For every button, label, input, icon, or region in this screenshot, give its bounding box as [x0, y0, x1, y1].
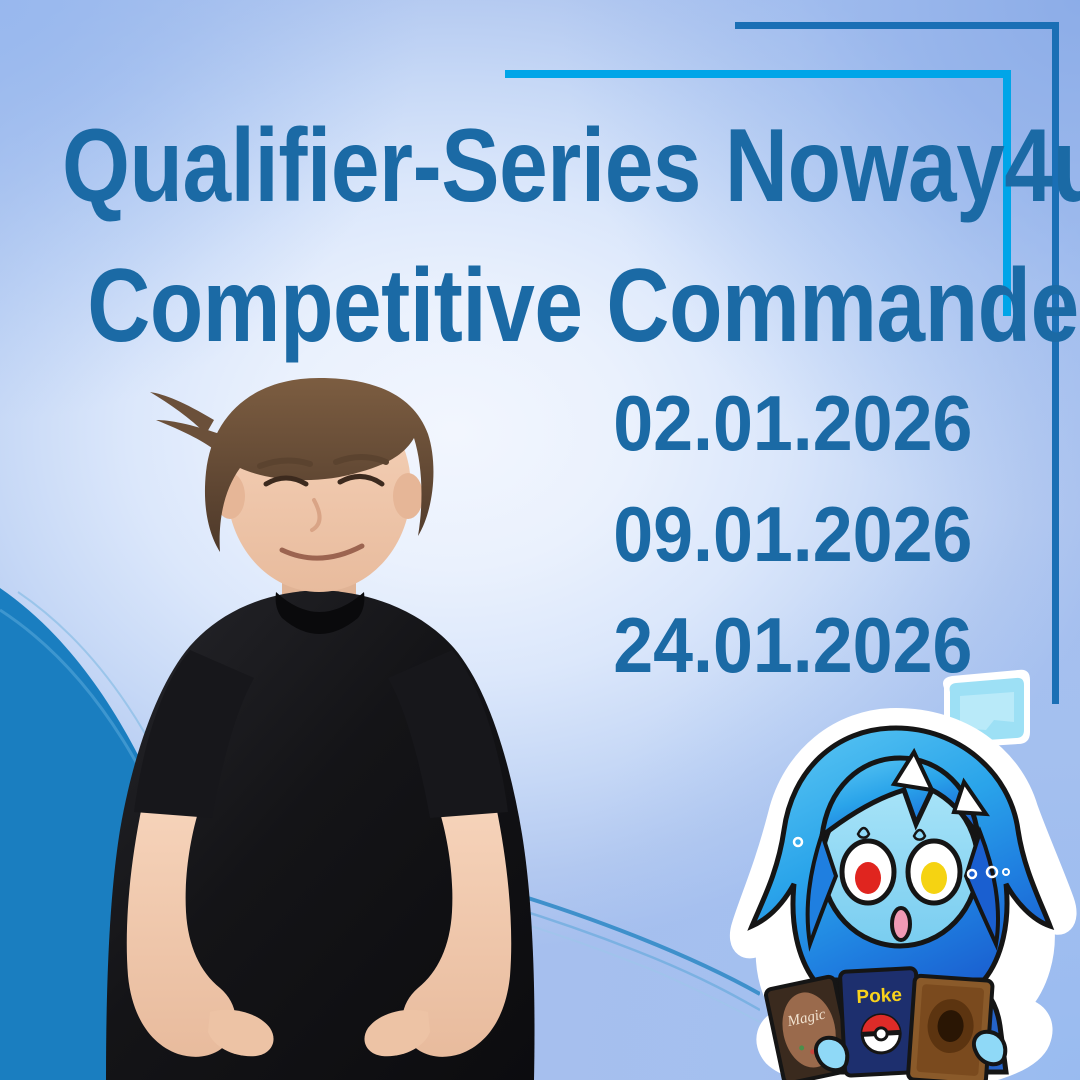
title-line-2: Competitive Commander [87, 236, 843, 376]
mascot-sweat-drop-1 [858, 828, 869, 838]
pokeball-center [875, 1028, 888, 1041]
mascot-hand-left [816, 1038, 847, 1071]
mascot-iris-left [855, 862, 881, 894]
yugioh-card [908, 975, 993, 1080]
mascot-character: Magic Poke [718, 686, 1078, 1080]
person-ear-right [393, 473, 423, 519]
page-title: Qualifier-Series Noway4u Competitive Com… [62, 96, 843, 377]
pokemon-card-label: Poke [856, 985, 902, 1008]
mascot-hand-right [974, 1032, 1005, 1065]
event-date-2: 09.01.2026 [613, 479, 972, 590]
mascot-sweat-drop-2 [914, 830, 925, 840]
event-date-list: 02.01.2026 09.01.2026 24.01.2026 [613, 368, 972, 700]
event-date-1: 02.01.2026 [613, 368, 972, 479]
event-date-3: 24.01.2026 [613, 590, 972, 701]
mascot-iris-right [921, 862, 947, 894]
mascot-mouth [892, 908, 910, 940]
title-line-1: Qualifier-Series Noway4u [62, 96, 843, 236]
promo-poster: Magic Poke Qualifier-Series Noway4u Comp… [0, 0, 1080, 1080]
